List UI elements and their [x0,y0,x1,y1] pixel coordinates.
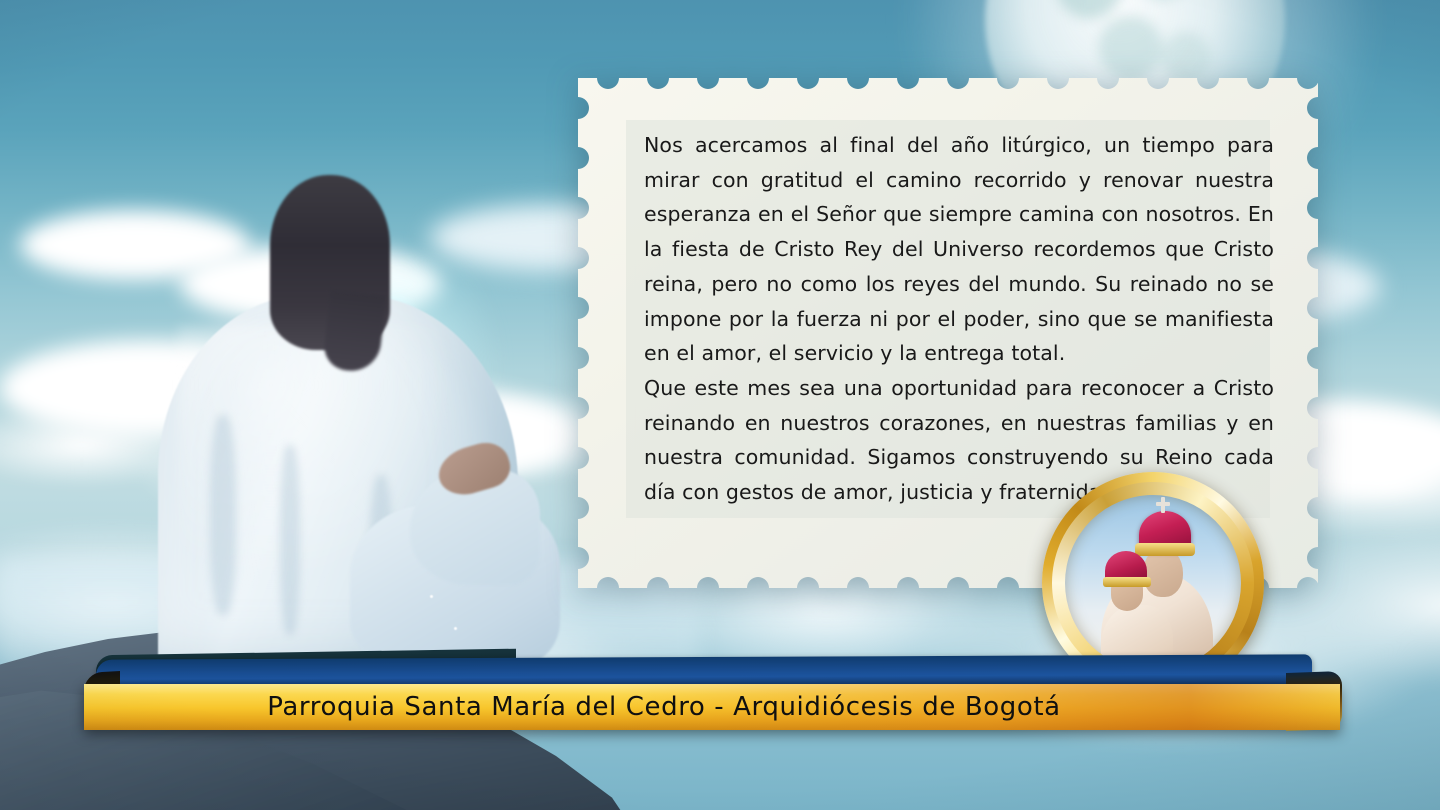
sparkle [454,627,457,630]
banner-title: Parroquia Santa María del Cedro - Arquid… [84,684,1340,730]
jesus-figure [120,175,560,675]
virgin-crown-band [1135,543,1195,556]
card-body-text: Nos acercamos al final del año litúrgico… [644,128,1274,510]
sparkle [430,595,433,598]
robe-fold [210,415,236,615]
robe-fold [280,445,300,635]
card-paragraph-1: Nos acercamos al final del año litúrgico… [644,128,1274,371]
announcement-stage: ︶ ︶ ︶ [0,0,1440,810]
child-crown-band [1103,577,1151,587]
crown-cross-icon-arm [1156,502,1170,506]
medallion-image [1065,495,1241,671]
